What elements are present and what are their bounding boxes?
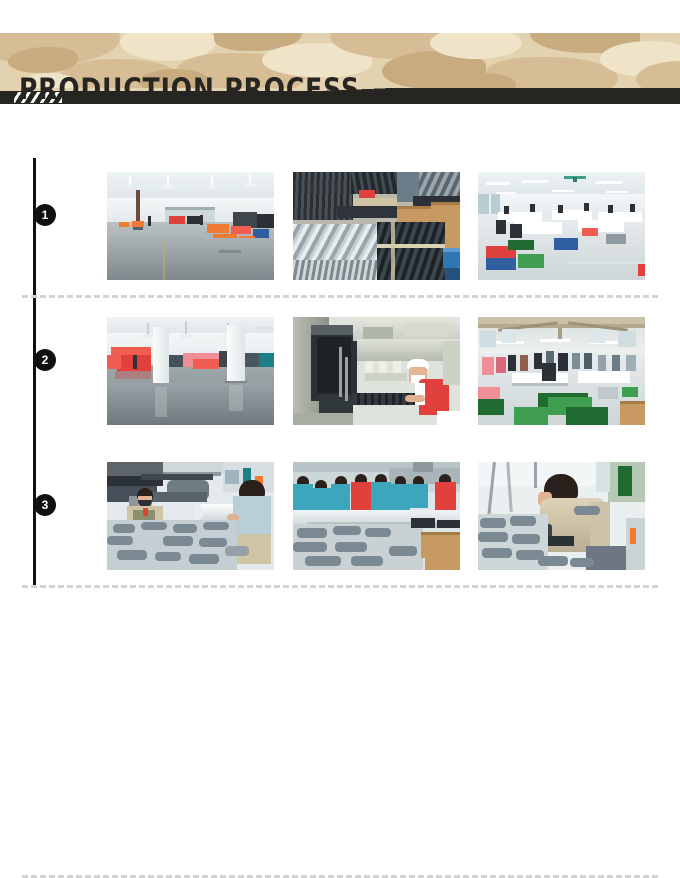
step-photo [107,462,274,570]
step-photo [293,172,460,280]
photo-scene-worker-sewing [478,462,645,570]
production-process-steps: 1 [0,140,680,580]
step-number-badge: 1 [34,204,56,226]
step-row: 3 [0,444,680,589]
photo-scene-fabric-cutting [107,462,274,570]
photo-scene-sewing-hall-green [478,317,645,425]
step-photo [478,172,645,280]
step-photo [107,317,274,425]
photo-scene-warehouse-empty [107,172,274,280]
photo-scene-machine-operator [293,317,460,425]
step-row: 1 [0,154,680,299]
photo-scene-material-stock [293,172,460,280]
step-photo [107,172,274,280]
page-title: PRODUCTION PROCESS [19,75,360,104]
step-photo [293,462,460,570]
photo-scene-warehouse-pillars [107,317,274,425]
step-number-badge: 3 [34,494,56,516]
page-banner: PRODUCTION PROCESS [0,33,680,104]
photo-scene-inspection-line [293,462,460,570]
step-separator [22,295,658,298]
step-photo [478,317,645,425]
step-photo [478,462,645,570]
step-photo [293,317,460,425]
step-number-badge: 2 [34,349,56,371]
step-row: 2 [0,299,680,444]
photo-scene-sewing-workshop [478,172,645,280]
